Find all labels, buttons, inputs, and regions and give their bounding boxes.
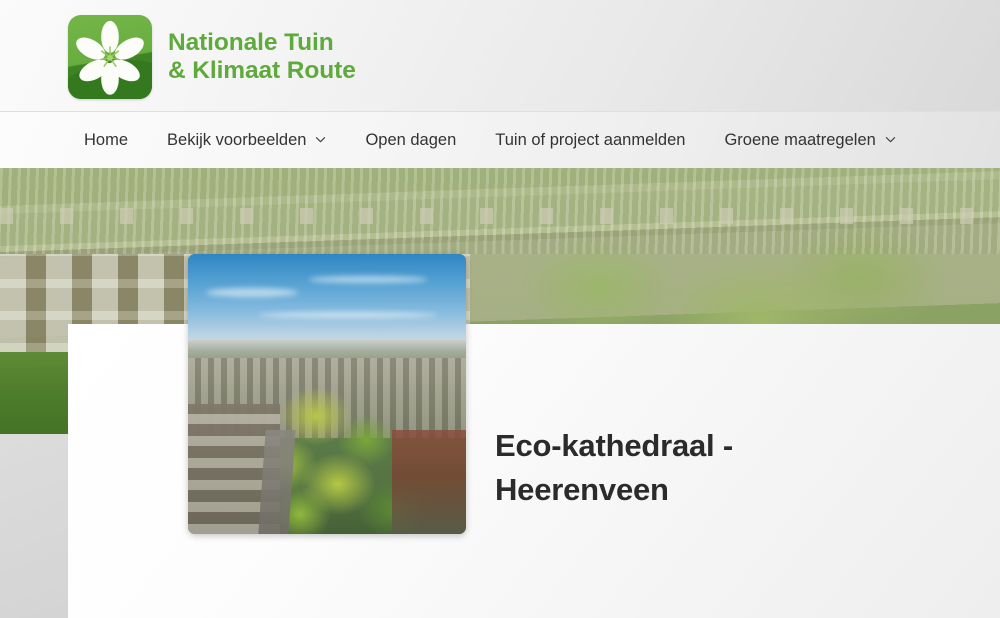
nav-label: Bekijk voorbeelden	[167, 132, 306, 149]
page-title: Eco-kathedraal - Heerenveen	[495, 424, 915, 512]
cloud-shape	[258, 312, 438, 318]
nav-label: Open dagen	[365, 132, 456, 149]
feature-image[interactable]	[188, 254, 466, 534]
nav-item-open-dagen[interactable]: Open dagen	[365, 132, 456, 149]
main-navigation: Home Bekijk voorbeelden Open dagen Tuin …	[0, 111, 1000, 168]
chevron-down-icon[interactable]	[885, 134, 896, 145]
nav-item-home[interactable]: Home	[84, 132, 128, 149]
flower-logo-icon	[68, 15, 152, 99]
logo-wordmark: Nationale Tuin & Klimaat Route	[168, 29, 356, 86]
site-header: Nationale Tuin & Klimaat Route	[0, 0, 1000, 111]
nav-label: Groene maatregelen	[724, 132, 875, 149]
cloud-shape	[308, 276, 428, 283]
nav-label: Home	[84, 132, 128, 149]
nav-item-groene-maatregelen[interactable]: Groene maatregelen	[724, 132, 895, 149]
nav-label: Tuin of project aanmelden	[495, 132, 685, 149]
hero-chimneys	[0, 208, 1000, 224]
feature-image-sky	[188, 254, 466, 347]
page-root: Nationale Tuin & Klimaat Route Home Beki…	[0, 0, 1000, 618]
feature-image-brick-buildings	[392, 430, 466, 534]
cloud-shape	[206, 288, 298, 297]
site-logo[interactable]: Nationale Tuin & Klimaat Route	[68, 15, 356, 99]
nav-item-bekijk-voorbeelden[interactable]: Bekijk voorbeelden	[167, 132, 326, 149]
nav-item-tuin-of-project-aanmelden[interactable]: Tuin of project aanmelden	[495, 132, 685, 149]
page-background-left	[0, 434, 68, 618]
chevron-down-icon[interactable]	[315, 134, 326, 145]
